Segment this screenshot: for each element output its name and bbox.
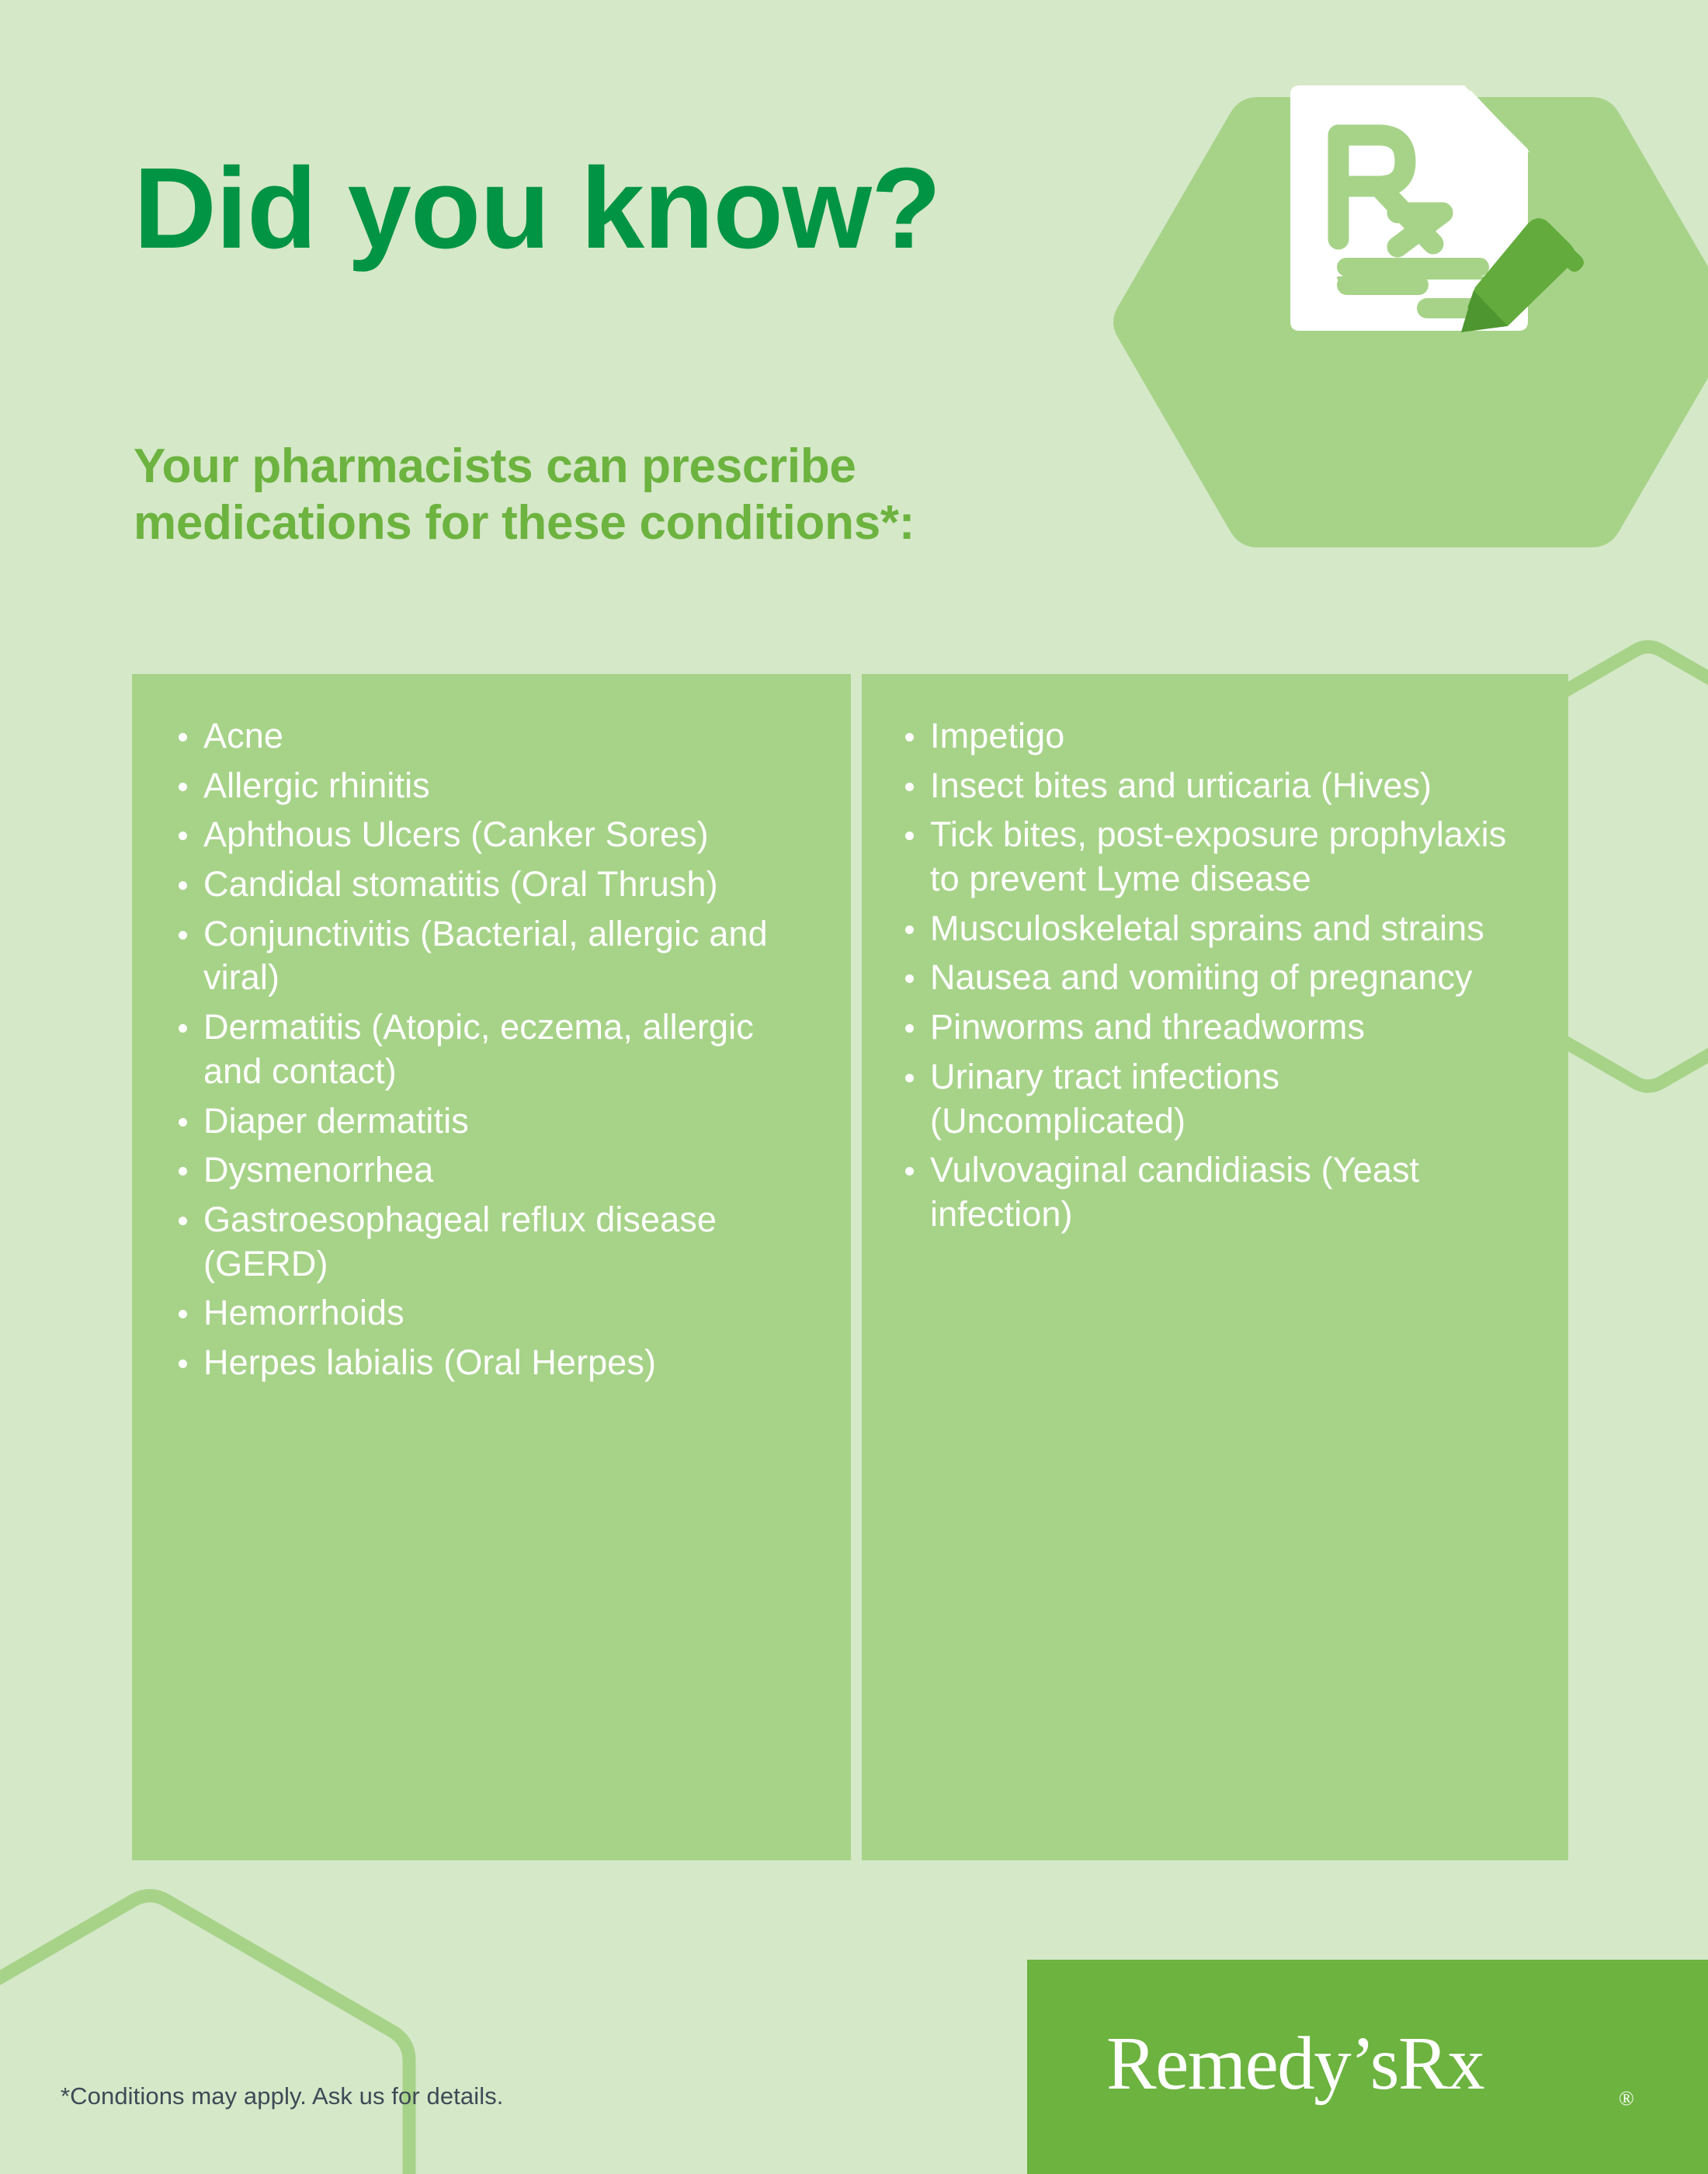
document-line-3 [1337, 275, 1429, 295]
page-subtitle: Your pharmacists can prescribe medicatio… [134, 439, 1104, 551]
registered-trademark-icon: ® [1619, 2087, 1634, 2110]
brand-logo-wordmark: Remedy’sRx [1106, 2020, 1484, 2106]
list-item: Impetigo [893, 714, 1537, 759]
list-item: Vulvovaginal candidiasis (Yeast infectio… [893, 1148, 1537, 1236]
list-item: Dermatitis (Atopic, eczema, allergic and… [163, 1005, 820, 1093]
list-item: Allergic rhinitis [163, 764, 820, 808]
document-folded-corner [1470, 90, 1529, 152]
list-item: Aphthous Ulcers (Canker Sores) [163, 813, 820, 857]
list-item: Dysmenorrhea [163, 1148, 820, 1193]
list-item: Herpes labialis (Oral Herpes) [163, 1341, 820, 1385]
list-item: Acne [163, 714, 820, 759]
footnote-text: *Conditions may apply. Ask us for detail… [61, 2082, 504, 2110]
list-item: Gastroesophageal reflux disease (GERD) [163, 1198, 820, 1286]
list-item: Tick bites, post-exposure prophylaxis to… [893, 813, 1537, 901]
page-title: Did you know? [134, 151, 940, 266]
list-item: Musculoskeletal sprains and strains [893, 907, 1537, 951]
list-item: Conjunctivitis (Bacterial, allergic and … [163, 912, 820, 1000]
conditions-card-left: Acne Allergic rhinitis Aphthous Ulcers (… [132, 674, 851, 1860]
poster-canvas: Did you know? Your pharmacists can presc… [0, 0, 1708, 2174]
rx-prescription-with-pencil-icon [1281, 84, 1607, 379]
list-item: Pinworms and threadworms [893, 1005, 1537, 1050]
page-subtitle-line-1: Your pharmacists can prescribe [134, 439, 1104, 495]
list-item: Candidal stomatitis (Oral Thrush) [163, 863, 820, 907]
list-item: Hemorrhoids [163, 1291, 820, 1335]
hexagon-outline-bottom-left [0, 1896, 409, 2174]
conditions-card-right: Impetigo Insect bites and urticaria (Hiv… [862, 674, 1568, 1860]
list-item: Diaper dermatitis [163, 1099, 820, 1144]
conditions-list-left: Acne Allergic rhinitis Aphthous Ulcers (… [163, 714, 820, 1385]
conditions-list-right: Impetigo Insect bites and urticaria (Hiv… [893, 714, 1537, 1237]
list-item: Insect bites and urticaria (Hives) [893, 764, 1537, 808]
document-line-1 [1337, 258, 1489, 276]
page-subtitle-line-2: medications for these conditions*: [134, 495, 1104, 552]
list-item: Nausea and vomiting of pregnancy [893, 956, 1537, 1000]
list-item: Urinary tract infections (Uncomplicated) [893, 1055, 1537, 1143]
